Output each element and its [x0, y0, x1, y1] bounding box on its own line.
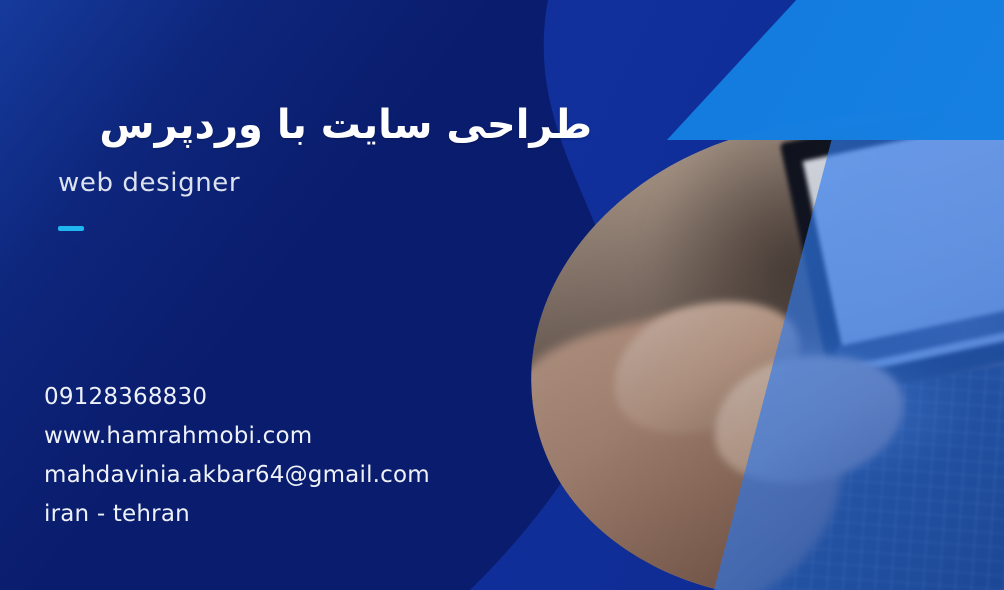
page-title: طراحی سایت با وردپرس	[0, 100, 592, 150]
contact-location: iran - tehran	[44, 495, 430, 534]
accent-dash-divider	[58, 226, 84, 231]
subtitle: web designer	[58, 168, 240, 198]
contact-phone[interactable]: 09128368830	[44, 378, 430, 417]
banner-content: طراحی سایت با وردپرس web designer 091283…	[0, 0, 1004, 590]
contact-email[interactable]: mahdavinia.akbar64@gmail.com	[44, 456, 430, 495]
contact-website[interactable]: www.hamrahmobi.com	[44, 417, 430, 456]
promo-banner: طراحی سایت با وردپرس web designer 091283…	[0, 0, 1004, 590]
contact-info-block: 09128368830 www.hamrahmobi.com mahdavini…	[44, 378, 430, 534]
